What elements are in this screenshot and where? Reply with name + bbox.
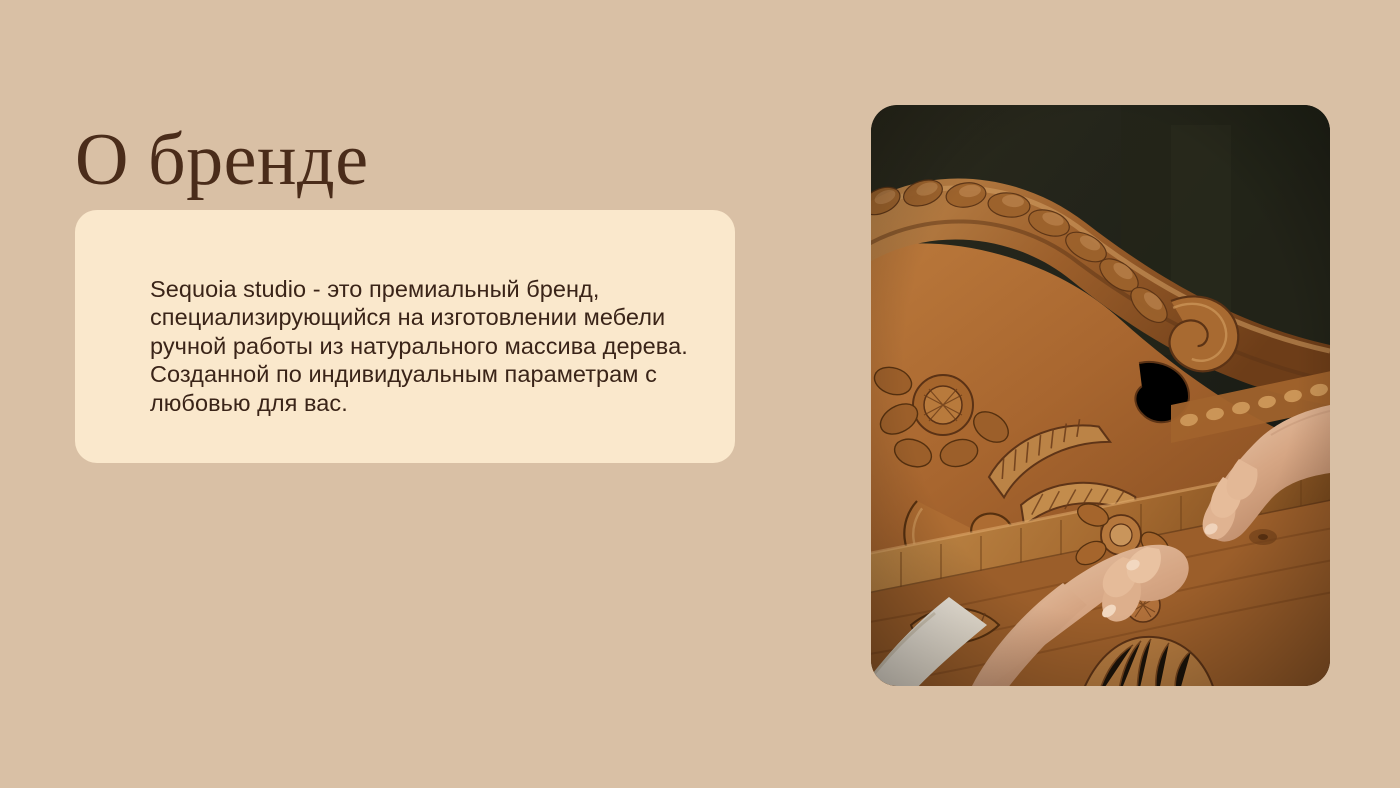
about-card: Sequoia studio - это премиальный бренд, …: [75, 210, 735, 463]
craftsmanship-photo: [871, 105, 1330, 686]
page-title: О бренде: [75, 122, 369, 200]
slide-root: О бренде Sequoia studio - это премиальны…: [0, 0, 1400, 788]
photo-illustration: [871, 105, 1330, 686]
about-body-text: Sequoia studio - это премиальный бренд, …: [150, 275, 710, 418]
